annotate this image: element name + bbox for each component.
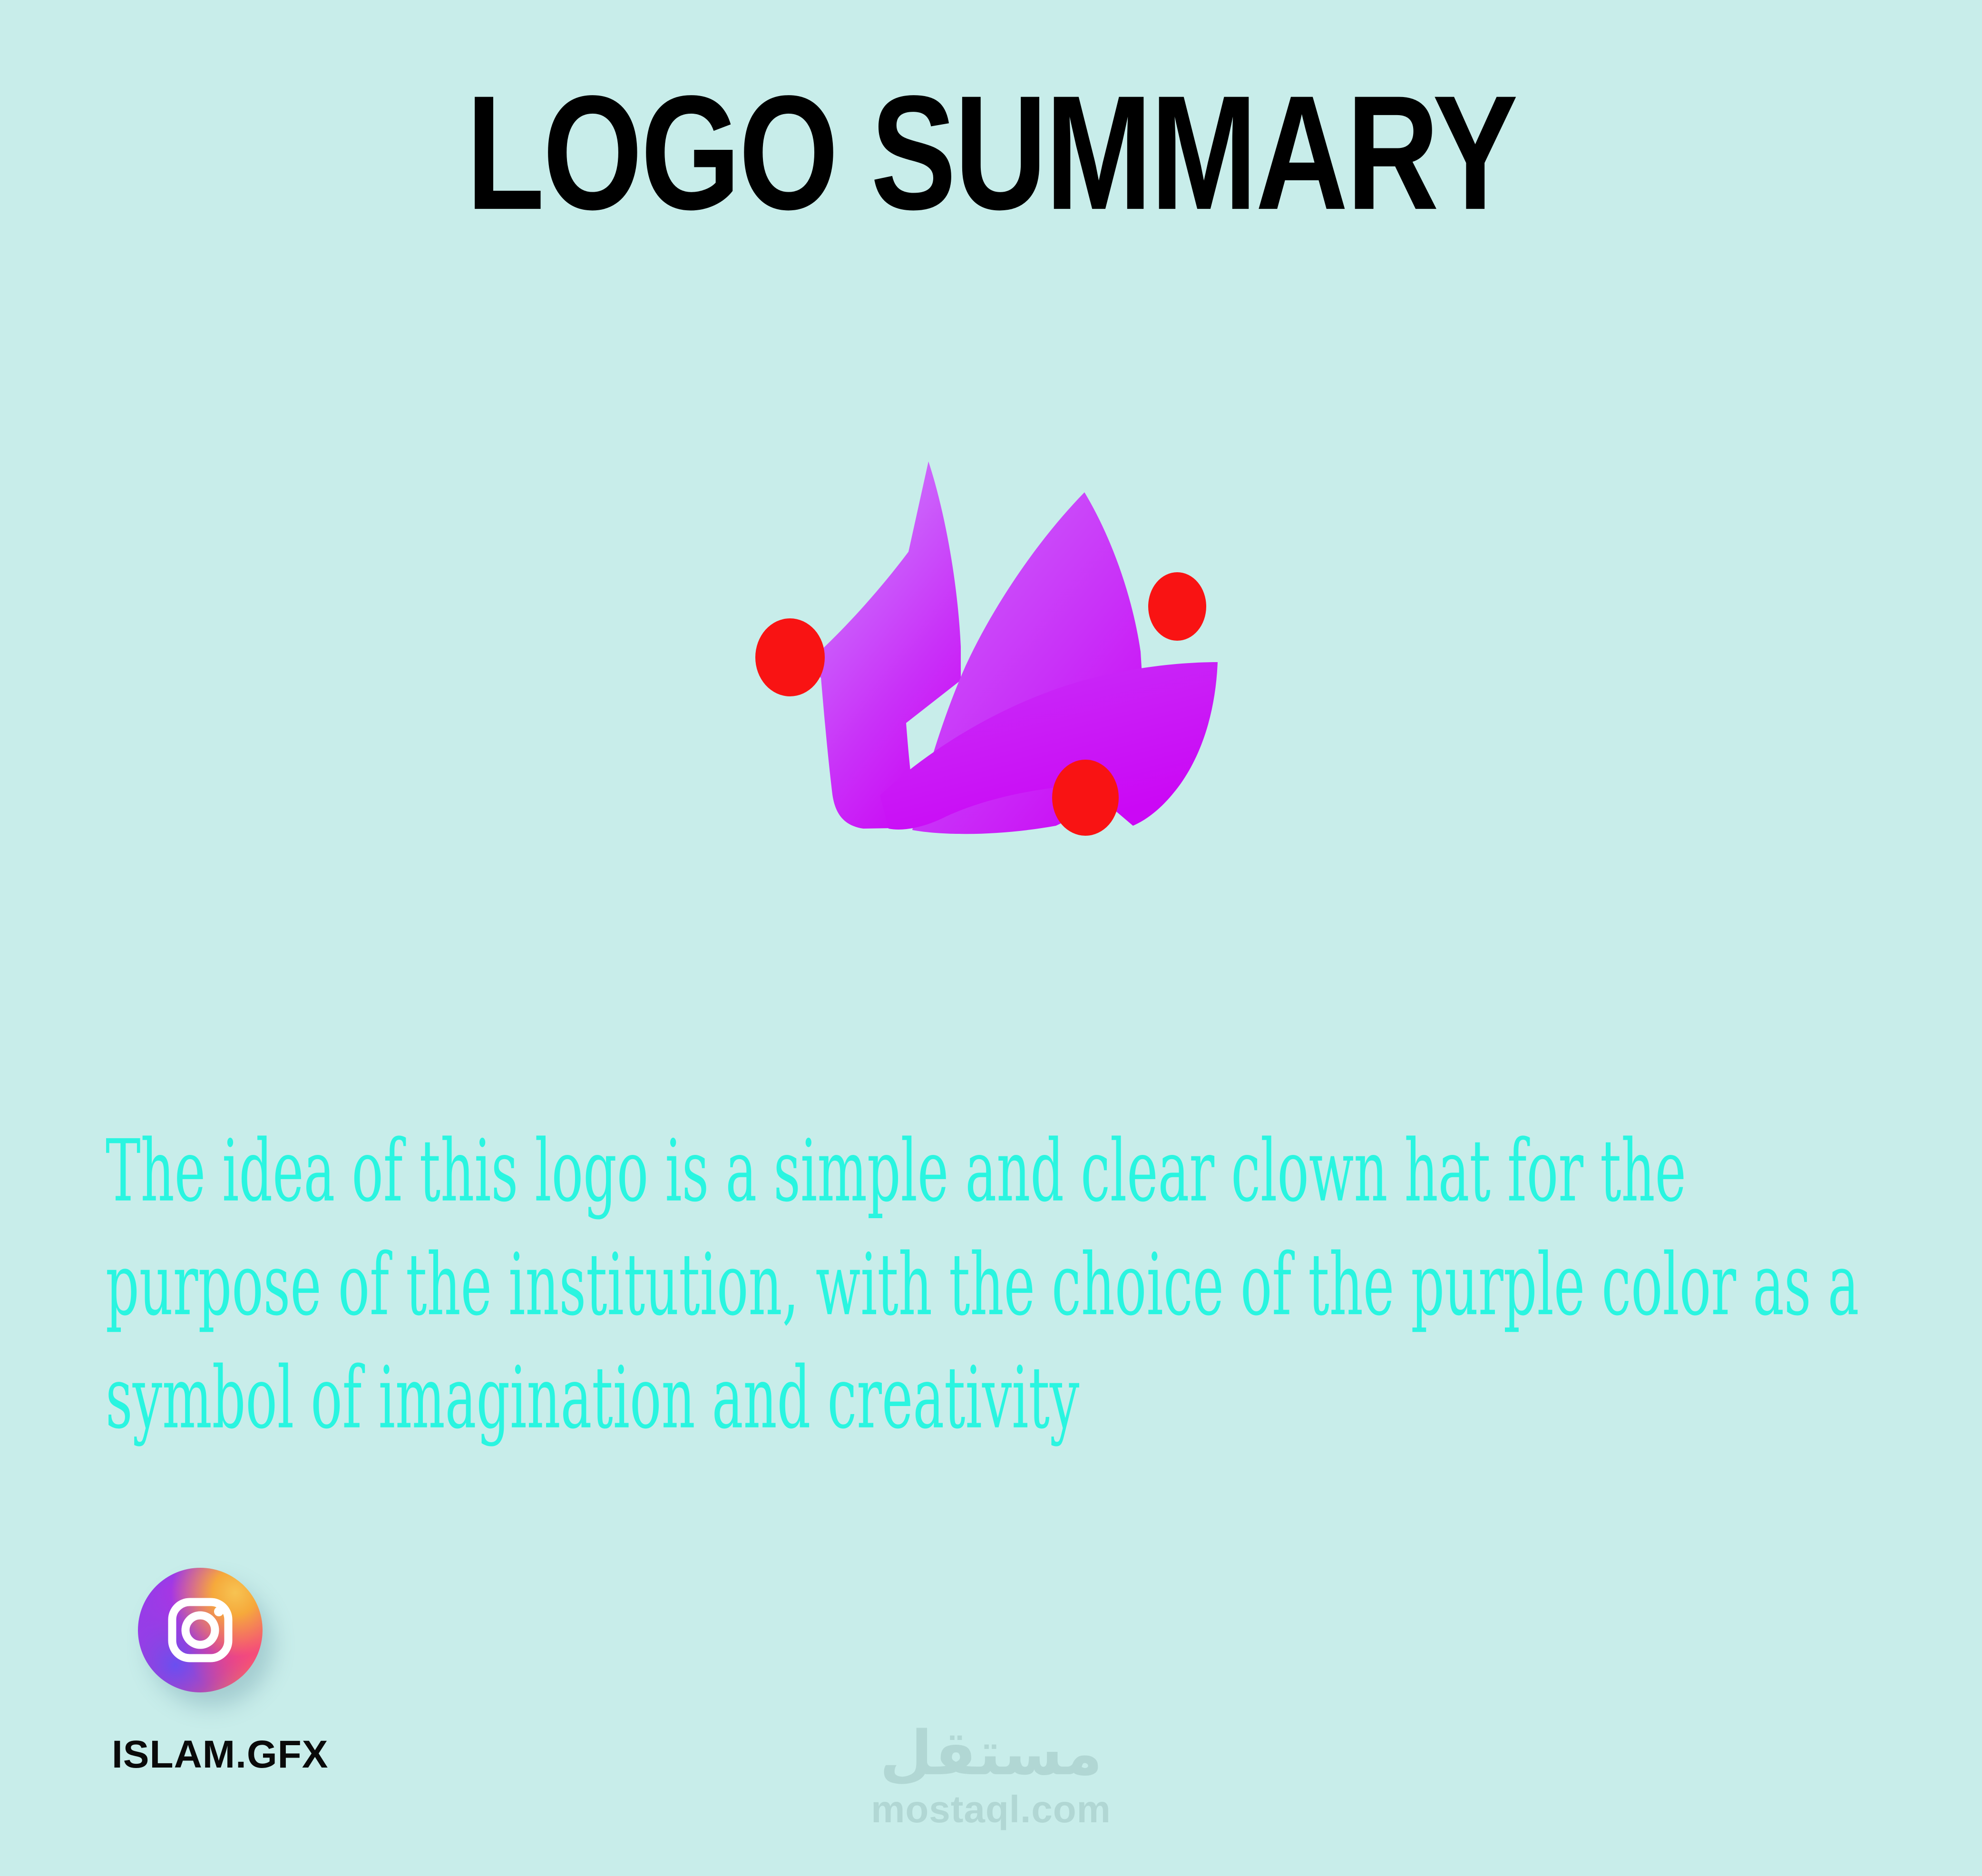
pompom-right-icon xyxy=(1148,572,1206,641)
watermark-arabic-wordmark: مستقل xyxy=(0,1722,1982,1786)
pompom-bottom-icon xyxy=(1052,760,1119,836)
logo-presentation-slide: LOGO SUMMARY xyxy=(0,0,1982,1876)
summary-paragraph: The idea of this logo is a simple and cl… xyxy=(106,1114,1886,1455)
mostaql-watermark: مستقل mostaql.com xyxy=(0,1722,1982,1830)
pompom-left-icon xyxy=(755,618,825,696)
clown-hat-logo-svg xyxy=(723,442,1256,837)
page-title: LOGO SUMMARY xyxy=(466,71,1516,234)
instagram-icon xyxy=(138,1568,263,1692)
social-credit-block[interactable]: ISLAM.GFX xyxy=(138,1568,263,1692)
clown-hat-logo xyxy=(723,442,1256,837)
summary-block: The idea of this logo is a simple and cl… xyxy=(106,1049,1908,1442)
instagram-badge[interactable] xyxy=(138,1568,263,1692)
watermark-domain: mostaql.com xyxy=(0,1788,1982,1830)
title-block: LOGO SUMMARY xyxy=(0,71,1982,209)
